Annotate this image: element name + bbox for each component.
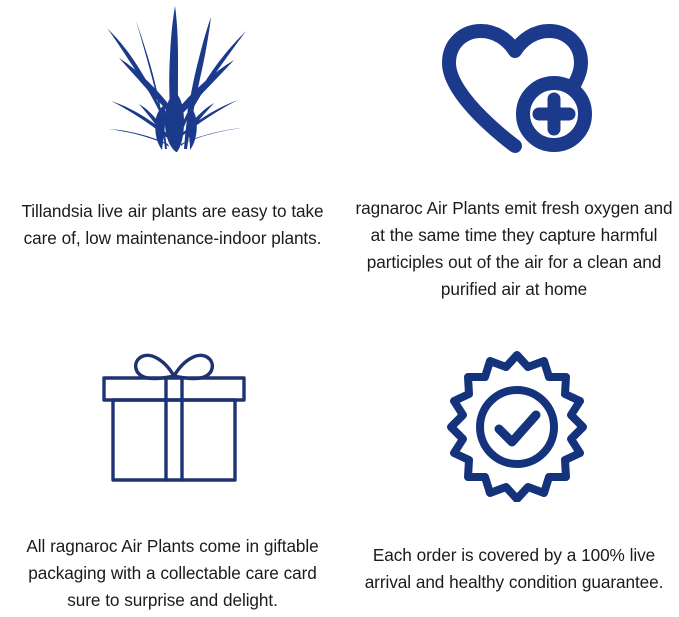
feature-card-oxygen: ragnaroc Air Plants emit fresh oxygen an… bbox=[347, 0, 679, 310]
heart-plus-icon bbox=[433, 19, 598, 159]
guarantee-seal-check-icon bbox=[437, 347, 597, 502]
feature-caption: Tillandsia live air plants are easy to t… bbox=[7, 198, 339, 252]
feature-caption: Each order is covered by a 100% live arr… bbox=[352, 542, 676, 596]
feature-grid: Tillandsia live air plants are easy to t… bbox=[0, 0, 679, 617]
feature-caption: All ragnaroc Air Plants come in giftable… bbox=[13, 533, 333, 614]
feature-card-gift: All ragnaroc Air Plants come in giftable… bbox=[0, 310, 347, 617]
feature-card-air-plant: Tillandsia live air plants are easy to t… bbox=[0, 0, 347, 310]
air-plant-icon bbox=[106, 4, 246, 154]
feature-card-guarantee: Each order is covered by a 100% live arr… bbox=[347, 310, 679, 617]
feature-caption: ragnaroc Air Plants emit fresh oxygen an… bbox=[352, 195, 676, 303]
gift-box-icon bbox=[88, 343, 260, 493]
